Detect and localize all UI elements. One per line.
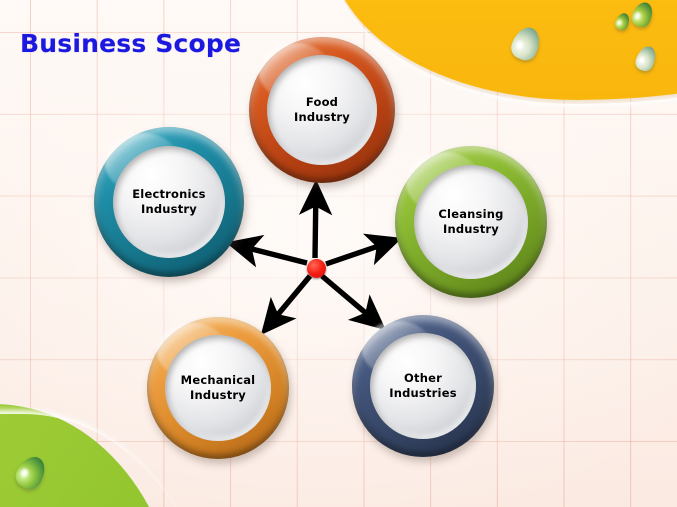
node-food[interactable]: Food Industry bbox=[249, 37, 395, 183]
node-food-label-line2: Industry bbox=[294, 110, 350, 124]
node-mechanical-face: Mechanical Industry bbox=[165, 335, 271, 441]
node-electronics-face: Electronics Industry bbox=[113, 146, 225, 258]
center-hub-dot bbox=[307, 259, 326, 278]
node-cleansing-face: Cleansing Industry bbox=[414, 165, 528, 279]
node-other-face: Other Industries bbox=[370, 333, 476, 439]
node-electronics-label-line1: Electronics bbox=[132, 187, 205, 201]
node-other[interactable]: Other Industries bbox=[352, 315, 494, 457]
node-mechanical-label-line1: Mechanical bbox=[181, 373, 256, 387]
node-other-label-line2: Industries bbox=[389, 386, 457, 400]
node-electronics-label-line2: Industry bbox=[141, 202, 197, 216]
node-food-label-line1: Food bbox=[306, 95, 338, 109]
slide-canvas: Food Industry Electronics Industry Clean… bbox=[0, 0, 677, 507]
node-cleansing-label-line1: Cleansing bbox=[438, 207, 503, 221]
page-title: Business Scope bbox=[20, 29, 241, 58]
node-other-label-line1: Other bbox=[404, 371, 442, 385]
node-mechanical[interactable]: Mechanical Industry bbox=[147, 317, 289, 459]
node-food-face: Food Industry bbox=[267, 55, 377, 165]
node-cleansing[interactable]: Cleansing Industry bbox=[395, 146, 547, 298]
node-electronics[interactable]: Electronics Industry bbox=[94, 127, 244, 277]
node-cleansing-label-line2: Industry bbox=[443, 222, 499, 236]
node-mechanical-label-line2: Industry bbox=[190, 388, 246, 402]
